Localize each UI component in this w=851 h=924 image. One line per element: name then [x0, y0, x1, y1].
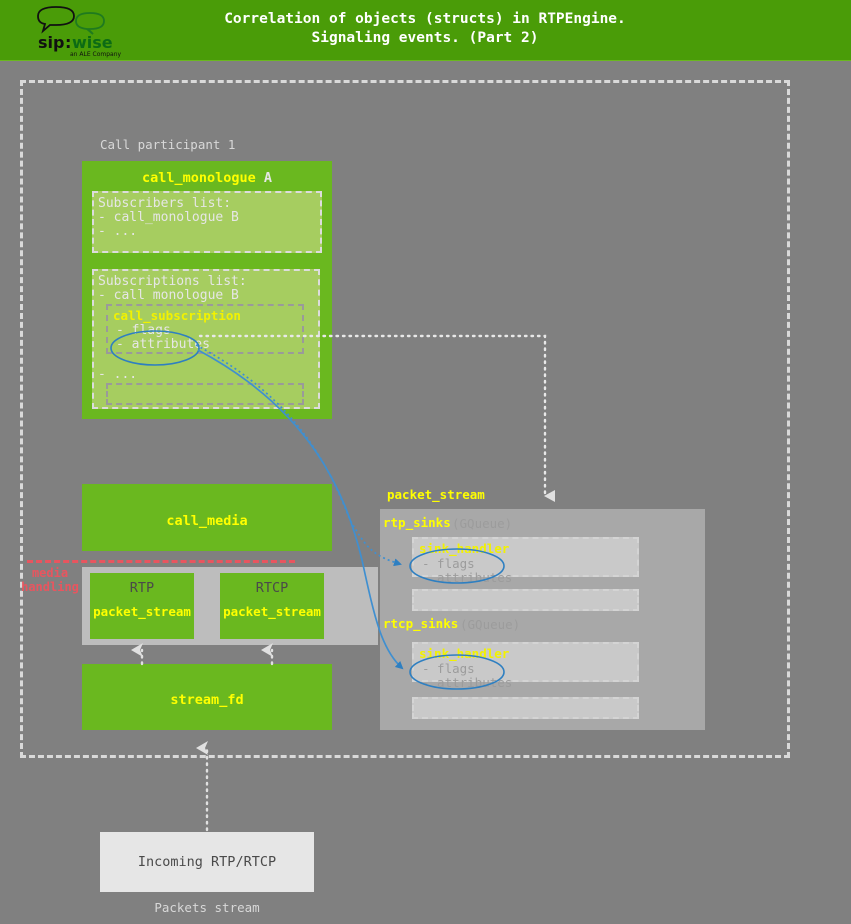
rtp-sink-handler-field-0: - flags: [422, 556, 475, 571]
stream-fd-box[interactable]: stream_fd: [82, 664, 332, 730]
rtcp-sinks-type: (GQueue): [460, 617, 520, 632]
call-media-title: call_media: [166, 513, 247, 529]
subscribers-item-0: - call_monologue B: [98, 210, 239, 225]
page-title: Correlation of objects (structs) in RTPE…: [170, 10, 680, 48]
rtcp-sinks-label: rtcp_sinks: [383, 616, 458, 631]
rtcp-packet-stream-box[interactable]: RTCP packet_stream: [220, 573, 324, 639]
rtp-sinks-type: (GQueue): [452, 516, 512, 531]
incoming-rtp-rtcp-label: Incoming RTP/RTCP: [100, 854, 314, 870]
rtcp-struct-label: packet_stream: [223, 604, 321, 619]
subscribers-list-box[interactable]: Subscribers list: - call_monologue B - .…: [92, 191, 322, 253]
rtcp-kind-label: RTCP: [256, 580, 289, 596]
rtp-sinks-label: rtp_sinks: [383, 515, 451, 530]
rtcp-sink-handler-empty-slot[interactable]: [412, 697, 639, 719]
call-subscription-box[interactable]: call_subscription - flags - attributes: [106, 304, 304, 354]
call-subscription-title: call_subscription: [113, 308, 241, 323]
svg-text:an ALE Company: an ALE Company: [70, 51, 122, 58]
page-header: sip : wise an ALE Company Correlation of…: [0, 0, 851, 61]
subscriptions-heading: Subscriptions list:: [98, 274, 247, 289]
media-handling-label: media handling: [20, 566, 80, 594]
packet-stream-panel-caption: packet_stream: [387, 487, 485, 502]
media-handling-divider: [27, 560, 295, 563]
subscriptions-item-1: - ...: [98, 367, 137, 382]
svg-text:wise: wise: [72, 33, 113, 52]
rtcp-sink-handler-title: sink_handler: [419, 646, 509, 661]
rtp-kind-label: RTP: [130, 580, 154, 596]
rtcp-sink-handler-field-1: - attributes: [422, 675, 512, 690]
packet-stream-panel[interactable]: rtp_sinks (GQueue) sink_handler - flags …: [380, 509, 705, 730]
call-monologue-box[interactable]: call_monologue A Subscribers list: - cal…: [82, 161, 332, 419]
subscribers-item-1: - ...: [98, 224, 137, 239]
call-subscription-field-0: - flags: [116, 323, 171, 338]
subscribers-heading: Subscribers list:: [98, 196, 231, 211]
call-monologue-title-suffix: A: [256, 170, 272, 186]
call-media-box[interactable]: call_media: [82, 484, 332, 551]
rtp-packet-stream-box[interactable]: RTP packet_stream: [90, 573, 194, 639]
stream-fd-title: stream_fd: [170, 692, 243, 708]
call-subscription-placeholder-box[interactable]: [106, 383, 304, 405]
call-subscription-field-1: - attributes: [116, 337, 210, 352]
incoming-rtp-rtcp-box[interactable]: Incoming RTP/RTCP: [100, 832, 314, 892]
sipwise-logo: sip : wise an ALE Company: [30, 4, 132, 58]
rtp-struct-label: packet_stream: [93, 604, 191, 619]
call-monologue-title: call_monologue: [142, 170, 256, 186]
rtcp-sink-handler-box[interactable]: sink_handler - flags - attributes: [412, 642, 639, 682]
packets-stream-caption: Packets stream: [100, 900, 314, 915]
call-participant-label: Call participant 1: [100, 137, 235, 152]
rtp-sink-handler-title: sink_handler: [419, 541, 509, 556]
svg-text:sip: sip: [38, 33, 64, 52]
subscriptions-item-0: - call monologue B: [98, 288, 239, 303]
rtcp-sink-handler-field-0: - flags: [422, 661, 475, 676]
svg-text::: :: [65, 33, 71, 52]
diagram-canvas: sip : wise an ALE Company Correlation of…: [0, 0, 851, 924]
rtp-sink-handler-box[interactable]: sink_handler - flags - attributes: [412, 537, 639, 577]
rtp-sink-handler-field-1: - attributes: [422, 570, 512, 585]
subscriptions-list-box[interactable]: Subscriptions list: - call monologue B c…: [92, 269, 320, 409]
rtp-sink-handler-empty-slot[interactable]: [412, 589, 639, 611]
